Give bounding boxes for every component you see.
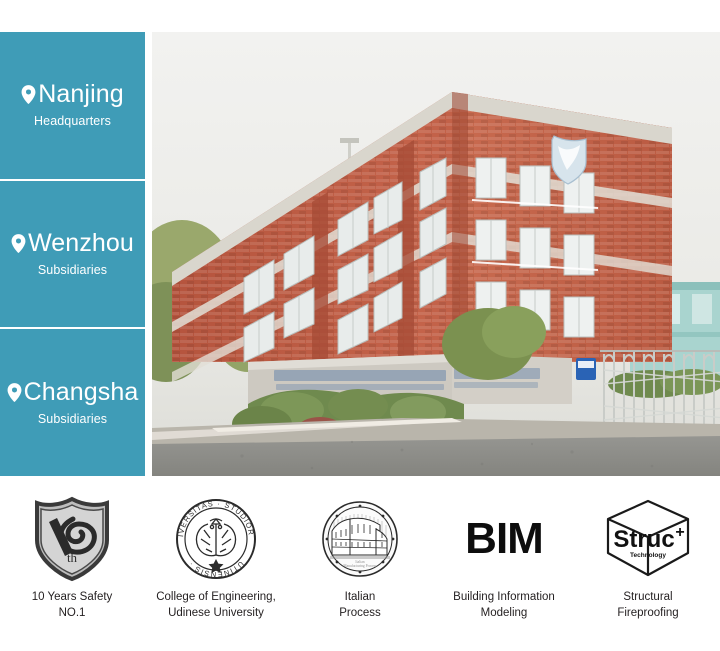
badge-label-line1: College of Engineering,	[156, 590, 276, 606]
location-panel: Nanjing Headquarters Wenzhou Subsidiarie…	[0, 32, 145, 476]
badge-label-line1: Building Information	[453, 590, 555, 606]
svg-text:th: th	[67, 550, 78, 565]
headquarters-photo	[152, 32, 720, 476]
badge-udine-university[interactable]: UNIVERSITAS · STUDIORUM UTINENSIS ·	[144, 495, 288, 651]
location-city: Changsha	[24, 380, 139, 405]
location-card-changsha[interactable]: Changsha Subsidiaries	[0, 327, 145, 476]
colosseum-seal-icon: Italian Manufacturing Process	[320, 499, 400, 579]
hero-section: Nanjing Headquarters Wenzhou Subsidiarie…	[0, 32, 720, 476]
struc-plus-superscript: +	[675, 524, 684, 541]
bim-wordmark-icon: BIM	[465, 517, 543, 561]
photo-illustration	[152, 32, 720, 476]
badge-label-line2: Udinese University	[156, 606, 276, 622]
location-role: Subsidiaries	[38, 412, 107, 426]
badge-label: College of Engineering, Udinese Universi…	[156, 590, 276, 621]
map-pin-icon	[11, 234, 26, 253]
badge-artwork: BIM	[465, 495, 543, 583]
badge-label-line2: NO.1	[32, 606, 113, 622]
badge-artwork: Italian Manufacturing Process	[320, 495, 400, 583]
location-role: Headquarters	[34, 114, 111, 128]
badge-artwork: Struc + Technology	[602, 495, 694, 583]
struc-cube-icon: Struc + Technology	[602, 497, 694, 581]
location-card-wenzhou[interactable]: Wenzhou Subsidiaries	[0, 179, 145, 328]
badge-artwork: th	[33, 495, 111, 583]
location-title: Nanjing	[21, 82, 123, 107]
location-role: Subsidiaries	[38, 263, 107, 277]
udine-university-seal-icon: UNIVERSITAS · STUDIORUM UTINENSIS ·	[174, 497, 258, 581]
badge-label-line2: Fireproofing	[617, 606, 678, 622]
location-card-nanjing[interactable]: Nanjing Headquarters	[0, 32, 145, 179]
badge-italian-process[interactable]: Italian Manufacturing Process Italian Pr…	[288, 495, 432, 651]
badge-label: 10 Years Safety NO.1	[32, 590, 113, 621]
location-title: Changsha	[7, 380, 139, 405]
badge-label: Building Information Modeling	[453, 590, 555, 621]
certification-badges: th 10 Years Safety NO.1 UNIVERSITAS · ST…	[0, 495, 720, 651]
map-pin-icon	[21, 85, 36, 104]
badge-bim[interactable]: BIM Building Information Modeling	[432, 495, 576, 651]
map-pin-icon	[7, 383, 22, 402]
badge-structural-fireproofing[interactable]: Struc + Technology Structural Fireproofi…	[576, 495, 720, 651]
badge-label: Structural Fireproofing	[617, 590, 678, 621]
struc-technology-subtext: Technology	[630, 552, 666, 559]
badge-label-line1: Italian	[339, 590, 381, 606]
badge-label-line1: 10 Years Safety	[32, 590, 113, 606]
svg-text:Manufacturing Process: Manufacturing Process	[343, 564, 377, 568]
badge-label-line1: Structural	[617, 590, 678, 606]
badge-label-line2: Modeling	[453, 606, 555, 622]
struc-wordmark: Struc	[613, 526, 674, 553]
location-city: Nanjing	[38, 82, 123, 107]
badge-10-years-safety[interactable]: th 10 Years Safety NO.1	[0, 495, 144, 651]
location-title: Wenzhou	[11, 231, 134, 256]
badge-artwork: UNIVERSITAS · STUDIORUM UTINENSIS ·	[174, 495, 258, 583]
shield-10th-anniversary-icon: th	[33, 496, 111, 582]
badge-label-line2: Process	[339, 606, 381, 622]
badge-label: Italian Process	[339, 590, 381, 621]
location-city: Wenzhou	[28, 231, 134, 256]
